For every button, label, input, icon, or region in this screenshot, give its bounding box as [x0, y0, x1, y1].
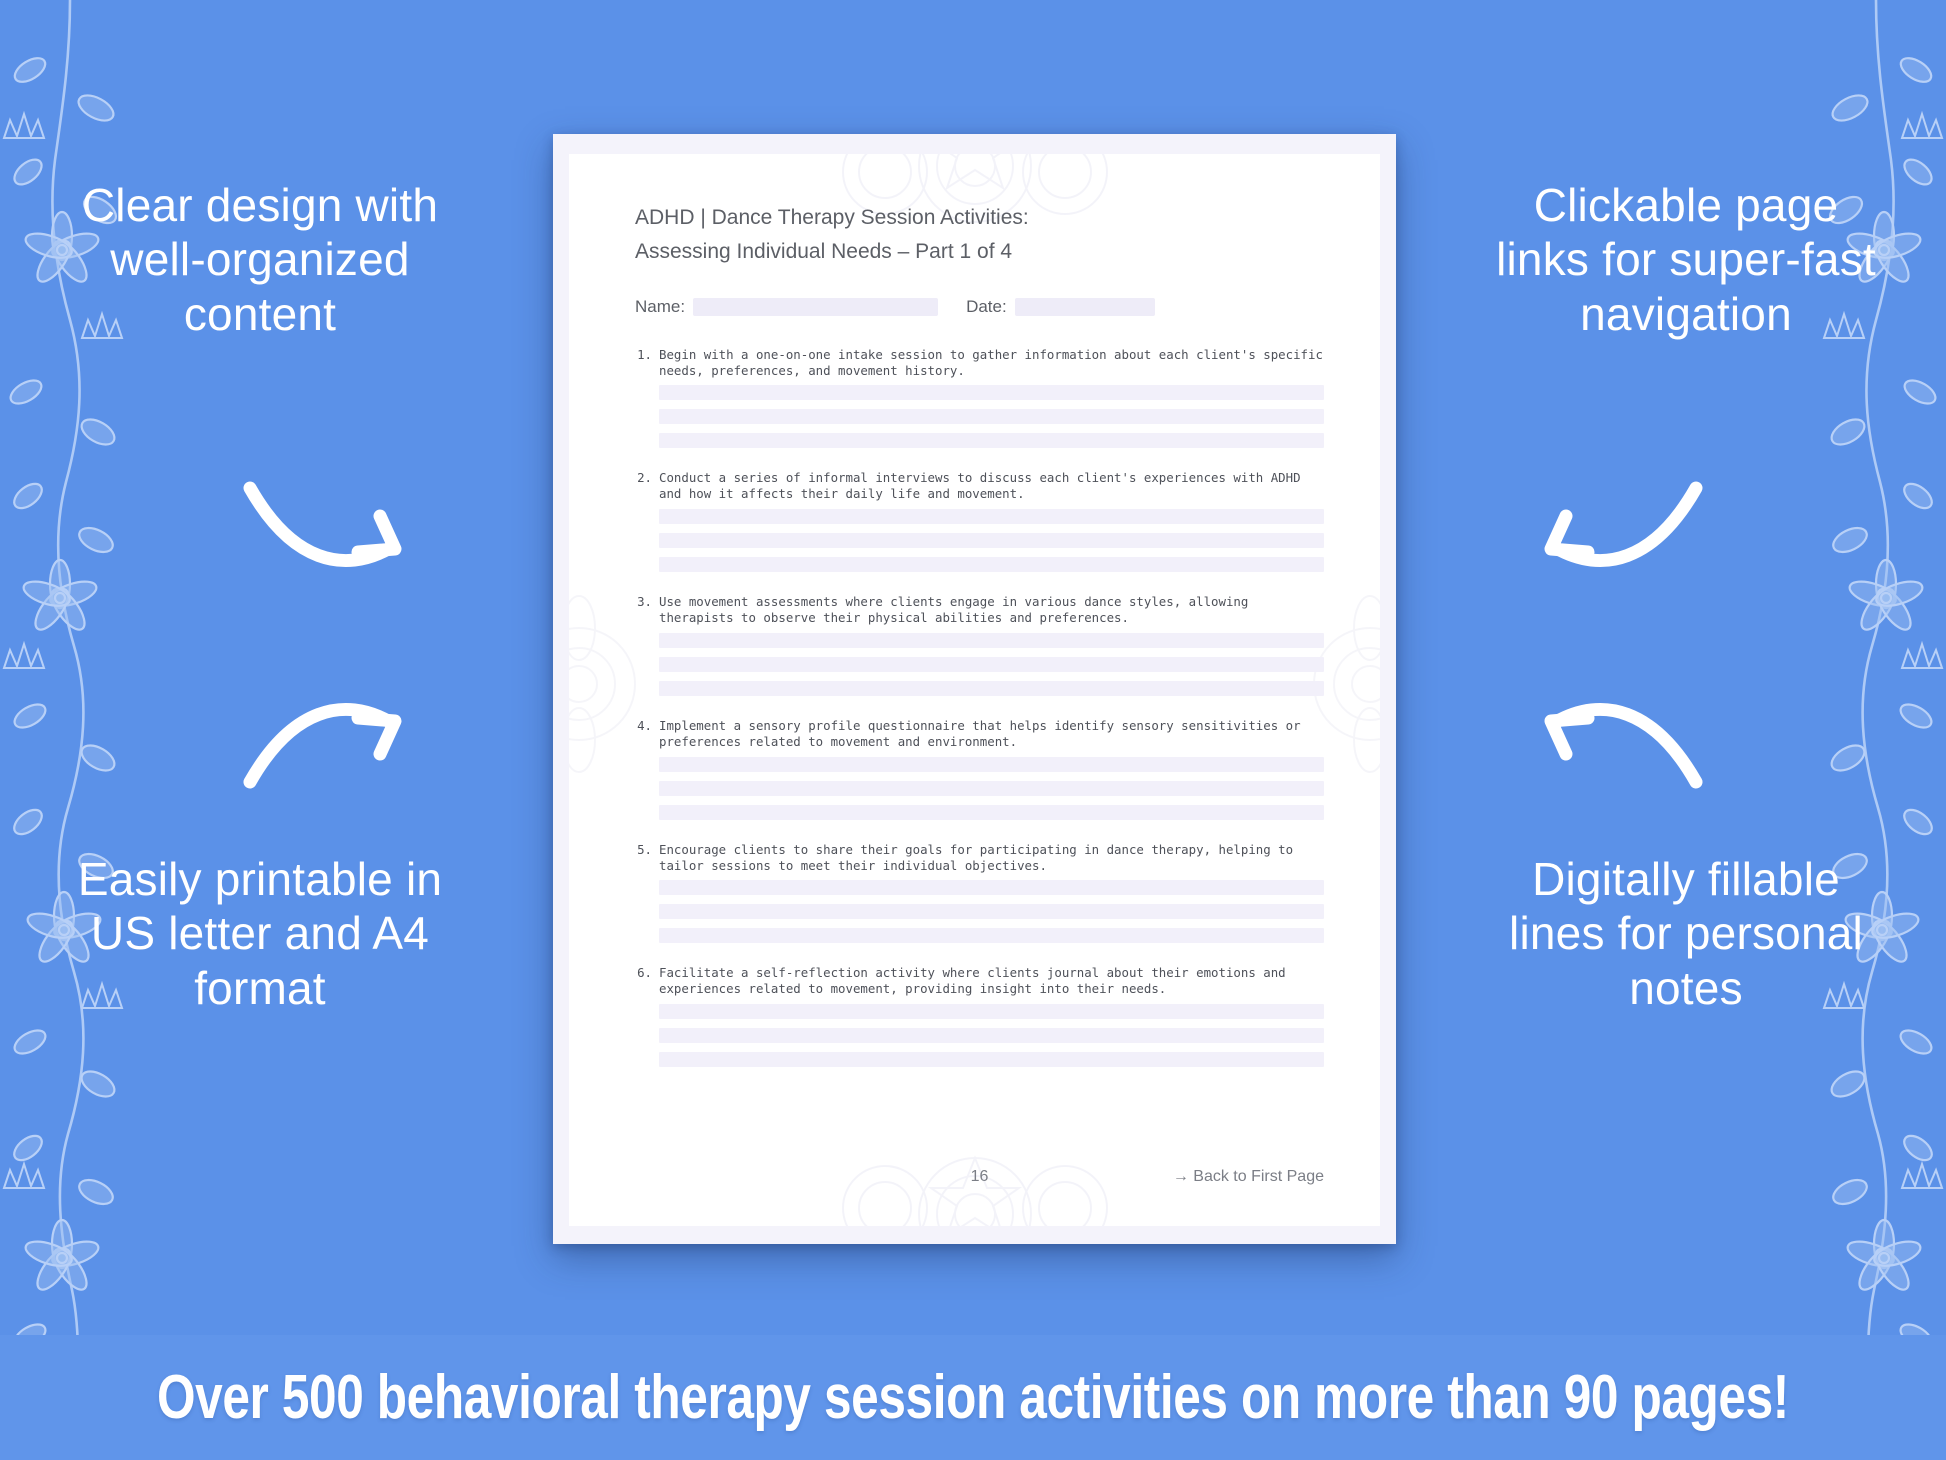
fillable-line[interactable] [659, 433, 1324, 448]
feature-text-clickable-links: Clickable page links for super-fast navi… [1486, 178, 1886, 341]
fillable-line[interactable] [659, 1052, 1324, 1067]
activity-item: 2.Conduct a series of informal interview… [635, 470, 1324, 572]
worksheet-title: ADHD | Dance Therapy Session Activities:… [635, 204, 1324, 267]
arrow-bottom-left-icon [240, 690, 420, 805]
activity-item-number: 3. [635, 594, 659, 626]
activity-item-copy: Implement a sensory profile questionnair… [659, 718, 1324, 750]
fillable-lines-group [659, 880, 1324, 943]
fillable-line[interactable] [659, 657, 1324, 672]
feature-label-top-left: Clear design with well-organized content [60, 178, 460, 341]
activity-item-text: 5.Encourage clients to share their goals… [635, 842, 1324, 874]
fillable-line[interactable] [659, 805, 1324, 820]
date-input[interactable] [1015, 298, 1155, 316]
arrow-top-left-icon [240, 470, 420, 585]
fillable-line[interactable] [659, 557, 1324, 572]
activity-item-number: 4. [635, 718, 659, 750]
activity-item-copy: Encourage clients to share their goals f… [659, 842, 1324, 874]
worksheet-title-line1: ADHD | Dance Therapy Session Activities: [635, 206, 1029, 229]
fillable-lines-group [659, 757, 1324, 820]
back-to-first-page-link[interactable]: → Back to First Page [1173, 1168, 1324, 1186]
activity-item-text: 4.Implement a sensory profile questionna… [635, 718, 1324, 750]
activity-item-copy: Begin with a one-on-one intake session t… [659, 347, 1324, 379]
worksheet-content: ADHD | Dance Therapy Session Activities:… [635, 204, 1324, 1089]
activity-item-copy: Conduct a series of informal interviews … [659, 470, 1324, 502]
fillable-line[interactable] [659, 757, 1324, 772]
fillable-line[interactable] [659, 880, 1324, 895]
fillable-line[interactable] [659, 509, 1324, 524]
feature-label-bottom-right: Digitally fillable lines for personal no… [1486, 852, 1886, 1015]
name-input[interactable] [693, 298, 938, 316]
activity-item-text: 6.Facilitate a self-reflection activity … [635, 965, 1324, 997]
fillable-line[interactable] [659, 1004, 1324, 1019]
activity-item: 6.Facilitate a self-reflection activity … [635, 965, 1324, 1067]
worksheet-footer: 16 → Back to First Page [635, 1168, 1324, 1186]
fillable-line[interactable] [659, 409, 1324, 424]
activity-item-text: 2.Conduct a series of informal interview… [635, 470, 1324, 502]
promo-banner: Over 500 behavioral therapy session acti… [0, 1335, 1946, 1460]
date-label: Date: [966, 297, 1007, 317]
feature-label-top-right: Clickable page links for super-fast navi… [1486, 178, 1886, 341]
arrow-bottom-right-icon [1526, 690, 1706, 805]
fillable-line[interactable] [659, 928, 1324, 943]
arrow-top-right-icon [1526, 470, 1706, 585]
fillable-line[interactable] [659, 385, 1324, 400]
fillable-line[interactable] [659, 1028, 1324, 1043]
promo-banner-text: Over 500 behavioral therapy session acti… [157, 1362, 1789, 1433]
fillable-line[interactable] [659, 781, 1324, 796]
feature-text-fillable-lines: Digitally fillable lines for personal no… [1486, 852, 1886, 1015]
activity-item-number: 6. [635, 965, 659, 997]
activity-item-number: 2. [635, 470, 659, 502]
worksheet-page-preview[interactable]: ADHD | Dance Therapy Session Activities:… [553, 134, 1396, 1244]
activity-item-number: 1. [635, 347, 659, 379]
fillable-line[interactable] [659, 904, 1324, 919]
feature-text-printable: Easily printable in US letter and A4 for… [60, 852, 460, 1015]
activity-item-copy: Facilitate a self-reflection activity wh… [659, 965, 1324, 997]
fillable-lines-group [659, 633, 1324, 696]
activity-item-number: 5. [635, 842, 659, 874]
activity-item: 1.Begin with a one-on-one intake session… [635, 347, 1324, 449]
activity-item-text: 3.Use movement assessments where clients… [635, 594, 1324, 626]
fillable-line[interactable] [659, 633, 1324, 648]
activity-item-text: 1.Begin with a one-on-one intake session… [635, 347, 1324, 379]
fillable-lines-group [659, 1004, 1324, 1067]
fillable-line[interactable] [659, 533, 1324, 548]
activity-item: 4.Implement a sensory profile questionna… [635, 718, 1324, 820]
name-label: Name: [635, 297, 685, 317]
worksheet-page-surface: ADHD | Dance Therapy Session Activities:… [569, 154, 1380, 1226]
feature-text-clear-design: Clear design with well-organized content [60, 178, 460, 341]
worksheet-meta-row: Name: Date: [635, 297, 1324, 317]
activity-item: 3.Use movement assessments where clients… [635, 594, 1324, 696]
page-number: 16 [971, 1168, 989, 1186]
worksheet-title-line2: Assessing Individual Needs – Part 1 of 4 [635, 238, 1324, 266]
activity-list: 1.Begin with a one-on-one intake session… [635, 347, 1324, 1068]
feature-label-bottom-left: Easily printable in US letter and A4 for… [60, 852, 460, 1015]
fillable-lines-group [659, 509, 1324, 572]
activity-item-copy: Use movement assessments where clients e… [659, 594, 1324, 626]
activity-item: 5.Encourage clients to share their goals… [635, 842, 1324, 944]
fillable-line[interactable] [659, 681, 1324, 696]
fillable-lines-group [659, 385, 1324, 448]
